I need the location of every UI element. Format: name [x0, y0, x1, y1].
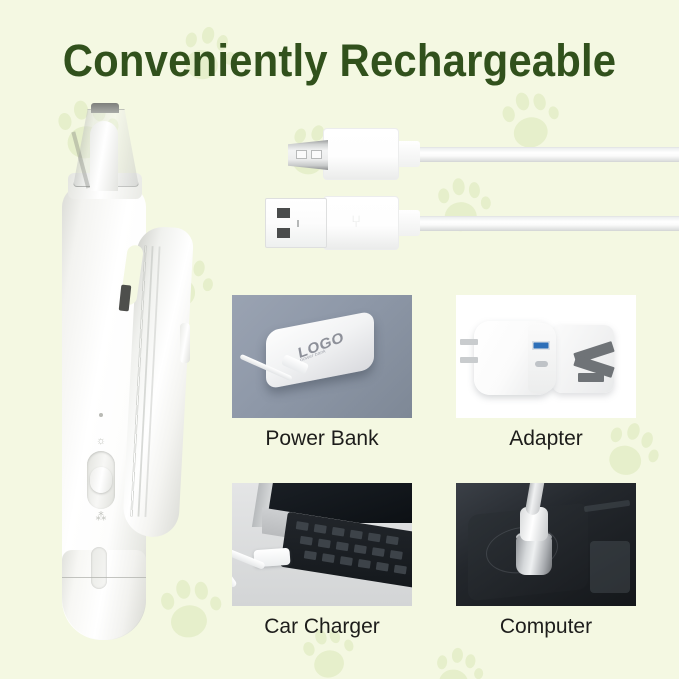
car-console-vent — [590, 541, 630, 593]
cap-top-cover — [91, 103, 119, 113]
usb-trident-icon: ⑂ — [351, 213, 361, 230]
tile-label-car-charger: Car Charger — [216, 614, 428, 640]
adapter-port-face — [528, 323, 556, 393]
laptop-key — [322, 553, 335, 563]
laptop-key — [296, 521, 309, 531]
laptop-key — [390, 550, 403, 560]
adapter-us-prong — [460, 339, 478, 345]
tile-label-power-bank: Power Bank — [216, 426, 428, 452]
adapter-us-prong — [460, 357, 478, 363]
laptop-key — [376, 562, 389, 572]
micro-usb-cable-line — [408, 147, 679, 162]
page-title: Conveniently Rechargeable — [24, 35, 655, 87]
usb-a-port-icon — [532, 341, 550, 350]
micro-usb-notch — [296, 150, 307, 159]
charging-port — [91, 547, 107, 589]
car-charger-photo — [456, 483, 636, 606]
laptop-key — [394, 565, 407, 575]
power-bank-photo: LOGO power bank — [232, 295, 412, 418]
device-side-button — [180, 323, 190, 363]
adapter-au-pin — [578, 373, 604, 382]
laptop-photo — [232, 483, 412, 606]
micro-usb-housing — [323, 128, 399, 180]
laptop-key — [350, 530, 363, 540]
laptop-key — [300, 536, 313, 546]
usb-c-port-icon — [535, 361, 548, 367]
device-seam — [62, 577, 146, 578]
micro-usb-notch — [311, 150, 322, 159]
tile-label-adapter: Adapter — [440, 426, 652, 452]
power-slider-knob — [90, 467, 112, 493]
laptop-key — [336, 541, 349, 551]
usb-a-cable-line — [408, 216, 679, 231]
charging-indicator-led — [99, 413, 103, 417]
product-image-nail-grinder: ☼ ⁂ — [38, 95, 228, 640]
car-charger-barrel — [516, 535, 552, 575]
laptop-key — [372, 547, 385, 557]
usb-a-pin — [297, 220, 299, 227]
paw-print-watermark — [427, 643, 489, 679]
laptop-key — [304, 550, 317, 560]
light-icon: ☼ — [91, 435, 111, 447]
usb-a-tip-icon — [265, 198, 327, 248]
laptop-key — [354, 544, 367, 554]
micro-usb-tip-icon — [288, 140, 328, 170]
laptop-key — [340, 556, 353, 566]
usb-a-contact — [277, 228, 290, 238]
laptop-key — [386, 535, 399, 545]
laptop-key — [358, 559, 371, 569]
laptop-key — [318, 539, 331, 549]
laptop-key — [332, 527, 345, 537]
laptop-key — [368, 533, 381, 543]
usb-a-contact — [277, 208, 290, 218]
tile-label-computer: Computer — [440, 614, 652, 640]
laptop-key — [314, 524, 327, 534]
grinder-bit — [90, 121, 118, 191]
adapter-photo — [456, 295, 636, 418]
product-infographic: Conveniently Rechargeable ☼ ⁂ ⑂ — [0, 0, 679, 679]
grinder-icon: ⁂ — [91, 511, 111, 523]
